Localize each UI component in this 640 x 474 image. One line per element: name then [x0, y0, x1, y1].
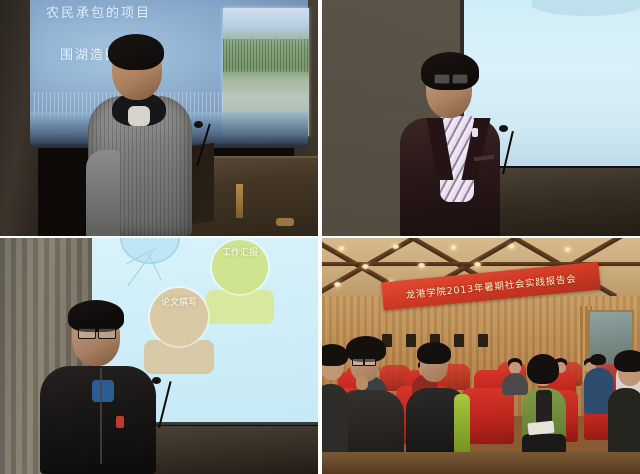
speaker-hair [108, 34, 164, 70]
audience-member-hand [356, 376, 368, 390]
podium-trim [236, 184, 243, 218]
ceiling-downlight [334, 282, 341, 287]
auditorium-floor [322, 452, 640, 474]
photo-panel-bottom-right: 龙港学院2013年暑期社会实践报告会 [322, 238, 640, 474]
eyeglasses-icon [434, 74, 468, 82]
photo-panel-top-left: 农民承包的项目 围湖造田严重 [0, 0, 318, 236]
photo-panel-top-right [322, 0, 640, 236]
audience-member-body [502, 373, 528, 395]
ceiling-downlight [392, 244, 399, 249]
jacket-logo [116, 416, 124, 428]
photo-panel-bottom-left: 工作汇报 论文撰写 [0, 238, 318, 474]
ceiling-downlight [450, 245, 457, 250]
ceiling-downlight [564, 247, 571, 252]
lapel-pin [472, 128, 478, 137]
microphone-head [499, 125, 508, 132]
eyeglasses-icon [78, 328, 116, 337]
wall-vent [406, 334, 416, 347]
podium-emblem [276, 218, 294, 226]
ceiling-downlight [508, 244, 515, 249]
ceiling-downlight [338, 246, 345, 251]
audience-member-hair [527, 354, 559, 384]
audience-member-hair [614, 350, 640, 372]
photo-collage: 农民承包的项目 围湖造田严重 [0, 0, 640, 474]
mindmap-node-green-label: 工作汇报 [212, 248, 268, 259]
eyeglasses-icon [352, 358, 376, 364]
ceiling-downlight [474, 262, 481, 267]
audience-member-head [590, 354, 606, 365]
speaker-arm [86, 150, 120, 236]
jacket-zipper [100, 368, 102, 464]
podium [128, 426, 318, 474]
audience-member-body [608, 388, 640, 454]
ceiling-downlight [418, 263, 425, 268]
microphone-head [194, 121, 203, 128]
audience-member-body [322, 384, 348, 454]
speaker-hair [421, 52, 479, 90]
mindmap-node-green-base [206, 290, 274, 324]
mindmap-node-tan-label: 论文撰写 [150, 298, 208, 309]
ceiling-downlight [362, 264, 369, 269]
wall-vent [454, 334, 464, 347]
wall-vent [478, 334, 488, 347]
audience-member-hair [322, 344, 348, 366]
slide-headline-1: 农民承包的项目 [46, 2, 151, 21]
audience-member-hair [417, 342, 451, 364]
speaker-undershirt [128, 106, 150, 126]
audience-jacket-green-panel [454, 394, 470, 456]
mindmap-node-tan [150, 288, 208, 346]
speaker-tshirt [92, 380, 114, 402]
